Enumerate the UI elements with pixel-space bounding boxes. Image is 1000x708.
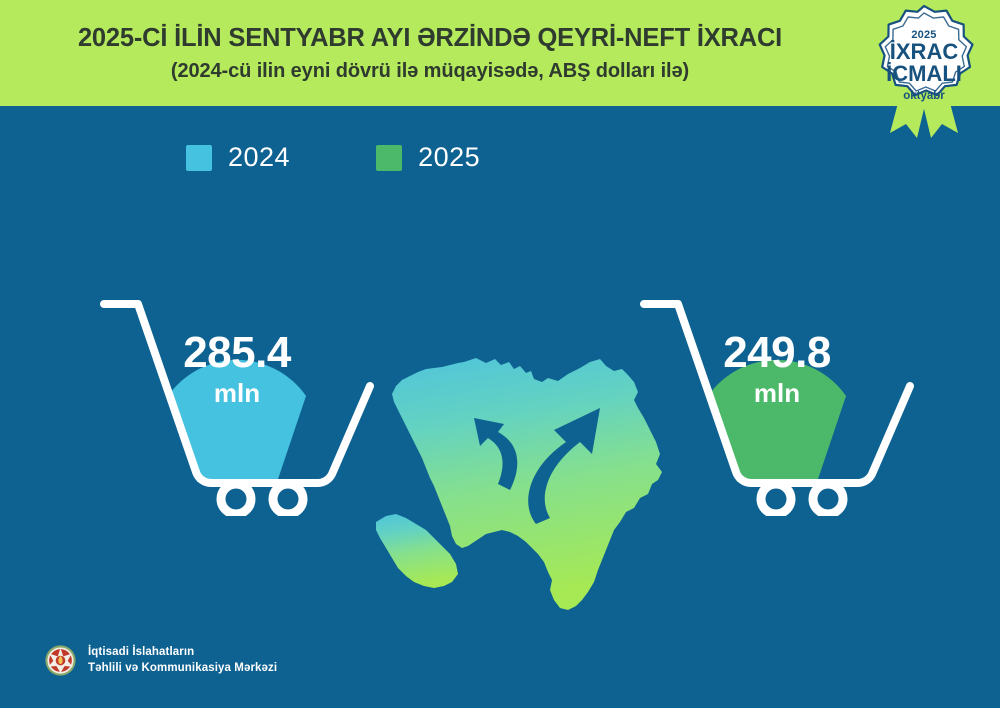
- legend-label-2024: 2024: [228, 142, 290, 173]
- cart-wheel-right: [273, 484, 303, 514]
- cart-2024: 285.4 mln: [96, 286, 378, 516]
- footer-org-line2: Təhlili və Kommunikasiya Mərkəzi: [88, 661, 277, 676]
- cart-wheel-left: [761, 484, 791, 514]
- footer-org-name: İqtisadi İslahatların Təhlili və Kommuni…: [88, 645, 277, 675]
- footer-branding: İqtisadi İslahatların Təhlili və Kommuni…: [44, 644, 277, 677]
- legend-swatch-2024: [186, 145, 212, 171]
- legend-label-2025: 2025: [418, 142, 480, 173]
- legend-item-2025: 2025: [376, 142, 480, 173]
- header-band: 2025-Cİ İLİN SENTYABR AYI ƏRZİNDƏ QEYRİ-…: [0, 0, 1000, 106]
- legend-item-2024: 2024: [186, 142, 290, 173]
- legend-swatch-2025: [376, 145, 402, 171]
- shopping-cart-icon: [96, 286, 378, 516]
- cart-wheel-left: [221, 484, 251, 514]
- infographic-page: 2025-Cİ İLİN SENTYABR AYI ƏRZİNDƏ QEYRİ-…: [0, 0, 1000, 708]
- footer-org-line1: İqtisadi İslahatların: [88, 645, 277, 660]
- page-title: 2025-Cİ İLİN SENTYABR AYI ƏRZİNDƏ QEYRİ-…: [78, 24, 782, 53]
- azerbaijan-map-icon: [368, 338, 708, 626]
- cart-wheel-right: [813, 484, 843, 514]
- badge-rosette-icon: [854, 2, 994, 144]
- header-titles: 2025-Cİ İLİN SENTYABR AYI ƏRZİNDƏ QEYRİ-…: [0, 0, 860, 106]
- azerbaijan-map: [368, 338, 708, 626]
- page-subtitle: (2024-cü ilin eyni dövrü ilə müqayisədə,…: [171, 60, 689, 83]
- export-review-badge: 2025 İXRAC İCMALI oktyabr: [854, 2, 994, 144]
- state-emblem-icon: [44, 644, 77, 677]
- legend: 2024 2025: [186, 142, 480, 173]
